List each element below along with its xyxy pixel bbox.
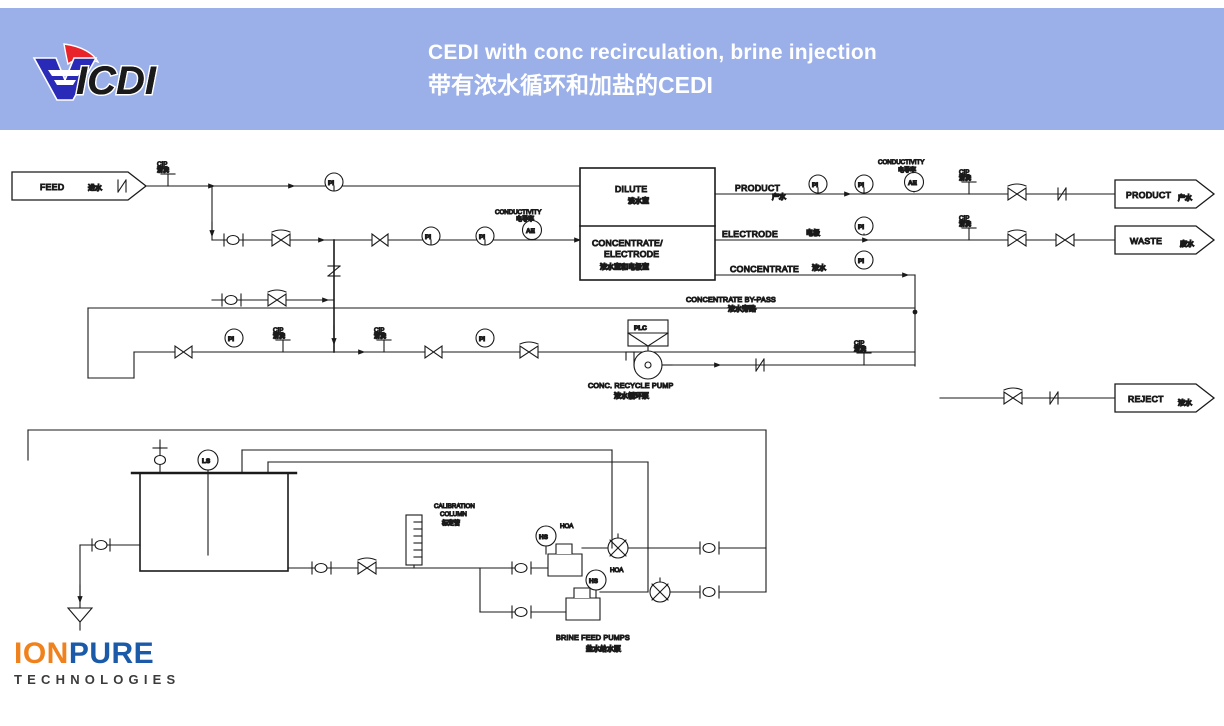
- reject-tag-label: REJECT: [1128, 394, 1164, 404]
- instrument-hs-pump-2: HS HOA: [586, 567, 624, 598]
- check-valve-recycle-upper: [268, 290, 286, 306]
- drain-funnel-icon: [68, 608, 92, 630]
- ae-product-tag: AE: [908, 180, 918, 187]
- plug-valve-pump1: [608, 534, 628, 558]
- pi-product-2-tag: PI: [858, 182, 864, 189]
- instrument-pi-dilute-1: PI: [422, 227, 440, 245]
- ionpure-tagline: TECHNOLOGIES: [14, 671, 254, 689]
- instrument-pi-feed: PI: [325, 173, 343, 191]
- hand-valve-pump2-discharge: [700, 586, 719, 598]
- ionpure-pure-text: PURE: [69, 637, 154, 670]
- icdi-logo: ICDI ICDI: [18, 36, 198, 108]
- concentrate-line-label-cn: 浓水: [812, 263, 827, 272]
- instrument-ae-product: AE CONDUCTIVITY 电导率: [878, 159, 924, 192]
- check-valve-waste: [1008, 230, 1026, 246]
- butterfly-valve-recycle-b: [425, 346, 442, 358]
- cip-waste-label-cn: 清洗: [959, 220, 971, 228]
- feed-label-cn: 进水: [88, 183, 103, 192]
- hs-pump-2-tag: HS: [589, 578, 599, 585]
- brine-feed-pump-2: BRINE FEED PUMPS 盐水给水泵: [512, 588, 648, 653]
- svg-text:ICDI: ICDI: [76, 59, 157, 103]
- stream-tag-reject: REJECT 浓水: [1115, 384, 1214, 412]
- pid-drawing: FEED 进水 CIP 清洗 PI PI: [0, 130, 1224, 726]
- conc-bypass-label: CONCENTRATE BY-PASS: [686, 295, 776, 304]
- instrument-pi-concentrate: PI: [855, 251, 873, 269]
- header-titles: CEDI with conc recirculation, brine inje…: [428, 38, 1128, 102]
- hs-pump-2-mode: HOA: [610, 567, 624, 574]
- slide-title-cn: 带有浓水循环和加盐的CEDI: [428, 68, 1128, 102]
- check-valve-tank-outlet: [358, 558, 376, 574]
- slide-title-en: CEDI with conc recirculation, brine inje…: [428, 38, 1128, 68]
- hand-valve-pump2-suction: [512, 606, 531, 618]
- electrode-line-label-cn: 电极: [806, 228, 821, 237]
- instrument-pi-product-1: PI: [809, 175, 827, 193]
- conc-recycle-pump-label-cn: 浓水循环泵: [614, 391, 649, 400]
- plc-tag: PLC: [634, 325, 647, 332]
- ionpure-wordmark: IONPURE: [14, 638, 254, 670]
- check-valve-reject: [1004, 388, 1022, 404]
- product-tag-label: PRODUCT: [1126, 190, 1172, 200]
- tank-vent-nozzle: [153, 440, 167, 473]
- hs-pump-1-tag: HS: [539, 534, 549, 541]
- cip-waste-label: CIP: [959, 215, 969, 222]
- check-valve-recycle-b: [520, 342, 538, 358]
- waste-tag-label-cn: 废水: [1180, 239, 1195, 248]
- cip-point-product: CIP 清洗: [959, 169, 976, 194]
- waste-tag-label: WASTE: [1130, 236, 1162, 246]
- plug-valve-pump2: [650, 578, 670, 602]
- electrode-line-label: ELECTRODE: [722, 229, 778, 239]
- stream-tag-product: PRODUCT 产水: [1115, 180, 1214, 208]
- cedi-module: DILUTE 淡水室 CONCENTRATE/ ELECTRODE 浓水室和电极…: [580, 168, 715, 280]
- hand-valve-pump1-discharge: [700, 542, 719, 554]
- instrument-ae-feed: AE CONDUCTIVITY 电导率: [495, 209, 542, 240]
- calibration-column-label-cn: 标定管: [441, 519, 460, 527]
- pi-feed-tag: PI: [328, 180, 334, 187]
- pi-dilute-2-tag: PI: [479, 234, 485, 241]
- icdi-logo-icon: ICDI ICDI: [18, 36, 198, 108]
- cip-recycle-3-label: CIP: [854, 340, 864, 347]
- instrument-pi-electrode: PI: [855, 217, 873, 235]
- cip-point-recycle-2: CIP 清洗: [374, 327, 391, 352]
- instrument-pi-recycle-1: PI: [225, 329, 243, 347]
- hand-valve-pump1-suction: [512, 562, 531, 574]
- plc-controller: PLC: [628, 320, 668, 346]
- butterfly-valve-recycle-a: [175, 346, 192, 358]
- ae-feed-tag: AE: [526, 228, 536, 235]
- cip-feed-label-cn: 清洗: [157, 166, 169, 174]
- pi-dilute-1-tag: PI: [425, 234, 431, 241]
- module-conc-label-2: ELECTRODE: [604, 249, 659, 259]
- instrument-pi-product-2: PI: [855, 175, 873, 193]
- butterfly-valve-dilute: [372, 234, 388, 246]
- instrument-pi-dilute-2: PI: [476, 227, 494, 245]
- brine-feed-pumps-label: BRINE FEED PUMPS: [556, 633, 630, 642]
- module-dilute-label-cn: 淡水室: [628, 196, 649, 205]
- pi-recycle-2-tag: PI: [479, 336, 485, 343]
- conc-recycle-pump: CONC. RECYCLE PUMP 浓水循环泵: [588, 351, 673, 400]
- cip-point-recycle-1: CIP 清洗: [273, 327, 290, 352]
- pi-product-1-tag: PI: [812, 182, 818, 189]
- check-valve-product: [1008, 184, 1026, 200]
- cip-recycle-2-label: CIP: [374, 327, 384, 334]
- ionpure-ion-text: ION: [14, 637, 69, 670]
- brine-tank: [132, 473, 296, 571]
- calibration-column: CALIBRATION COLUMN 标定管: [406, 503, 475, 568]
- cip-recycle-1-label-cn: 清洗: [273, 332, 285, 340]
- cip-feed-label: CIP: [157, 161, 167, 168]
- module-dilute-label: DILUTE: [615, 184, 647, 194]
- ls-tag: LS: [202, 458, 211, 465]
- riser-junction-dot: [913, 310, 918, 315]
- conc-recycle-pump-label: CONC. RECYCLE PUMP: [588, 381, 673, 390]
- module-conc-label-cn: 浓水室和电极室: [600, 262, 649, 271]
- hs-pump-1-mode: HOA: [560, 523, 574, 530]
- pi-recycle-1-tag: PI: [228, 336, 234, 343]
- feed-label: FEED: [40, 182, 65, 192]
- pid-diagram-canvas: FEED 进水 CIP 清洗 PI PI: [0, 130, 1224, 726]
- calibration-column-label-1: CALIBRATION: [434, 503, 475, 510]
- cip-recycle-2-label-cn: 清洗: [374, 332, 386, 340]
- concentrate-line-label: CONCENTRATE: [730, 264, 799, 274]
- cip-point-feed: CIP 清洗: [157, 161, 175, 186]
- instrument-pi-recycle-2: PI: [476, 329, 494, 347]
- conc-bypass-label-cn: 浓水旁路: [728, 304, 757, 313]
- cip-product-label-cn: 清洗: [959, 174, 971, 182]
- tank-drain-valve: [80, 539, 140, 551]
- check-valve-dilute-inlet: [272, 230, 290, 246]
- product-line-label-cn: 产水: [772, 192, 787, 201]
- ae-product-label-cn: 电导率: [898, 166, 916, 174]
- butterfly-valve-waste: [1056, 234, 1074, 246]
- ae-feed-label: CONDUCTIVITY: [495, 209, 541, 216]
- module-conc-label-1: CONCENTRATE/: [592, 238, 663, 248]
- brine-feed-pumps-label-cn: 盐水给水泵: [586, 644, 621, 653]
- ionpure-logo: IONPURE TECHNOLOGIES: [14, 638, 254, 704]
- pi-concentrate-tag: PI: [858, 258, 864, 265]
- ae-product-label: CONDUCTIVITY: [878, 159, 924, 166]
- product-tag-label-cn: 产水: [1178, 193, 1193, 202]
- slide-header: ICDI ICDI CEDI with conc recirculation, …: [0, 8, 1224, 130]
- ae-feed-label-cn: 电导率: [516, 215, 534, 223]
- cip-recycle-3-label-cn: 清洗: [854, 345, 866, 353]
- reject-tag-label-cn: 浓水: [1178, 398, 1193, 407]
- calibration-column-label-2: COLUMN: [440, 511, 467, 518]
- stream-tag-waste: WASTE 废水: [1115, 226, 1214, 254]
- pi-electrode-tag: PI: [858, 224, 864, 231]
- product-line-label: PRODUCT: [735, 183, 781, 193]
- cip-recycle-1-label: CIP: [273, 327, 283, 334]
- cip-point-waste: CIP 清洗: [959, 215, 976, 240]
- cip-point-recycle-3: CIP 清洗: [854, 340, 871, 365]
- cip-product-label: CIP: [959, 169, 969, 176]
